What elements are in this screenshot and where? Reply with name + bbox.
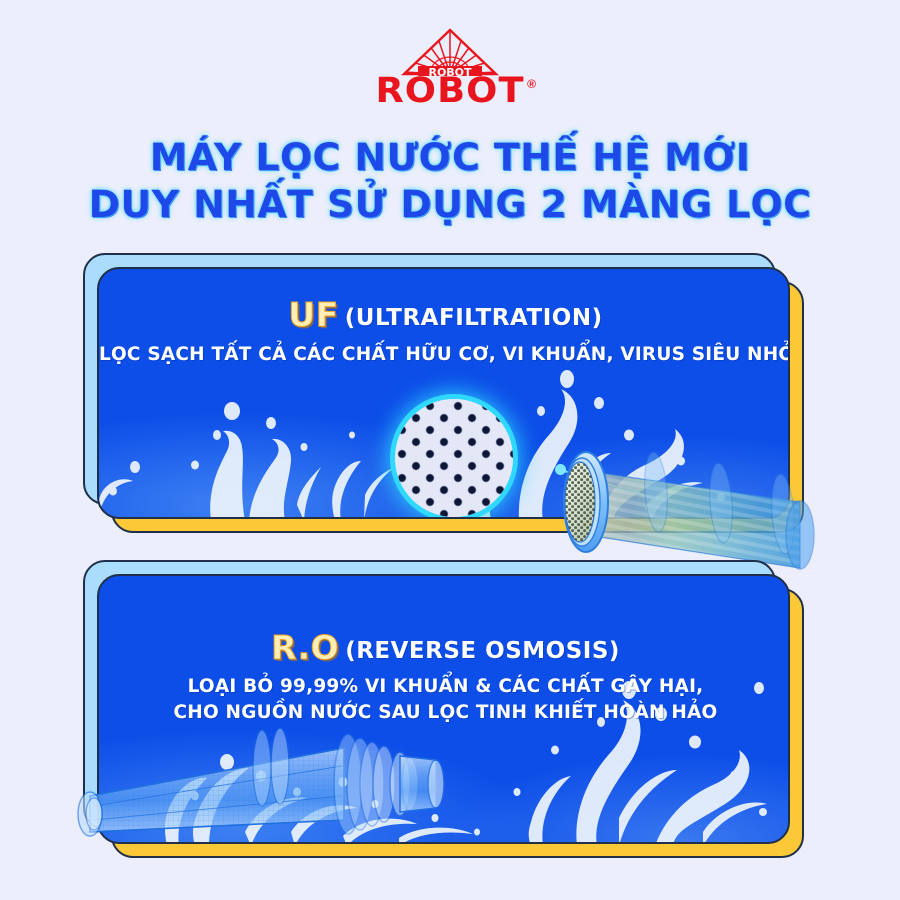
uf-title: UF(ULTRAFILTRATION) [99, 295, 790, 334]
brand-logo: ROBOT ROBOT ® [0, 28, 900, 109]
ro-subtitle-line-1: LOẠI BỎ 99,99% VI KHUẨN & CÁC CHẤT GÂY H… [99, 676, 790, 697]
headline-line-1: MÁY LỌC NƯỚC THẾ HỆ MỚI [0, 136, 900, 179]
brand-wordmark: ROBOT [375, 74, 524, 109]
ro-tag-label: R.O [271, 628, 339, 667]
registered-trademark-icon: ® [527, 77, 536, 91]
panel-ro[interactable]: R.O(REVERSE OSMOSIS) LOẠI BỎ 99,99% VI K… [83, 560, 813, 870]
poster-canvas: ROBOT ROBOT ® MÁY LỌC NƯỚC THẾ HỆ MỚI DU… [0, 0, 900, 900]
uf-subtitle-line-1: LỌC SẠCH TẤT CẢ CÁC CHẤT HỮU CƠ, VI KHUẨ… [99, 344, 790, 365]
ro-tag-expansion: (REVERSE OSMOSIS) [345, 638, 620, 664]
uf-membrane-magnifier-circle [395, 399, 513, 517]
ro-membrane-cartridge [48, 720, 448, 860]
uf-tag-label: UF [288, 295, 338, 334]
uf-tag-expansion: (ULTRAFILTRATION) [345, 305, 603, 331]
robot-sunburst-triangle-logo: ROBOT [396, 28, 504, 76]
panel-uf[interactable]: UF(ULTRAFILTRATION) LỌC SẠCH TẤT CẢ CÁC … [83, 253, 813, 543]
ro-title: R.O(REVERSE OSMOSIS) [99, 628, 790, 667]
headline-line-2: DUY NHẤT SỬ DỤNG 2 MÀNG LỌC [0, 183, 900, 226]
uf-membrane-pores [395, 399, 513, 517]
